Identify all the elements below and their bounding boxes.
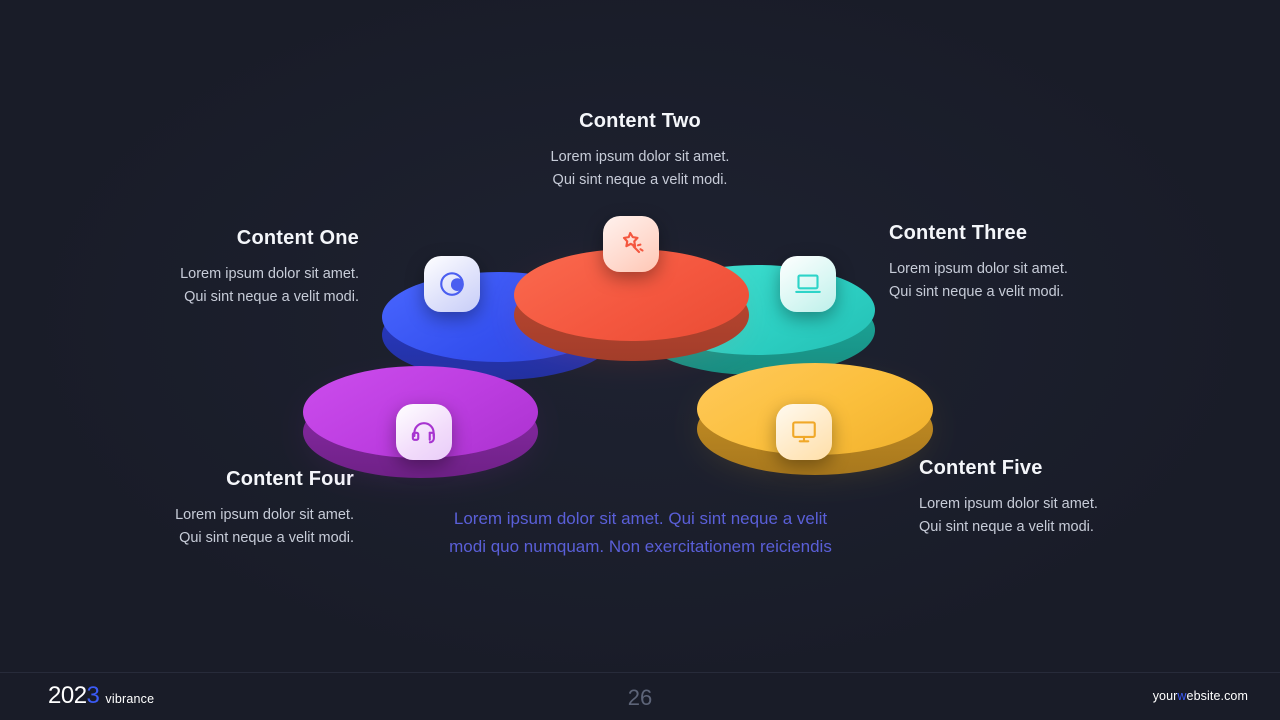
- content-two-body: Lorem ipsum dolor sit amet. Qui sint neq…: [0, 146, 1280, 193]
- content-one-title: Content One: [180, 225, 359, 251]
- headphones-icon[interactable]: [396, 404, 452, 460]
- content-block-one: Content One Lorem ipsum dolor sit amet. …: [180, 225, 359, 310]
- moon-circle-icon[interactable]: [424, 256, 480, 312]
- content-block-four: Content Four Lorem ipsum dolor sit amet.…: [175, 466, 354, 551]
- content-four-title: Content Four: [175, 466, 354, 492]
- content-one-body: Lorem ipsum dolor sit amet. Qui sint neq…: [180, 263, 359, 310]
- page-number: 26: [0, 685, 1280, 711]
- website-url-suffix: ebsite.com: [1187, 689, 1248, 703]
- content-block-five: Content Five Lorem ipsum dolor sit amet.…: [919, 455, 1098, 540]
- magic-wand-icon[interactable]: [603, 216, 659, 272]
- slide-caption: Lorem ipsum dolor sit amet. Qui sint neq…: [448, 505, 833, 560]
- slide-canvas: Content One Lorem ipsum dolor sit amet. …: [0, 0, 1280, 720]
- content-five-title: Content Five: [919, 455, 1098, 481]
- content-block-two: Content Two Lorem ipsum dolor sit amet. …: [0, 108, 1280, 193]
- content-three-title: Content Three: [889, 220, 1068, 246]
- monitor-icon[interactable]: [776, 404, 832, 460]
- content-block-three: Content Three Lorem ipsum dolor sit amet…: [889, 220, 1068, 305]
- content-three-body: Lorem ipsum dolor sit amet. Qui sint neq…: [889, 258, 1068, 305]
- slide-footer: 2023 vibrance 26 yourwebsite.com: [0, 672, 1280, 720]
- website-url-accent: w: [1177, 689, 1186, 703]
- content-two-title: Content Two: [0, 108, 1280, 134]
- content-four-body: Lorem ipsum dolor sit amet. Qui sint neq…: [175, 504, 354, 551]
- website-url-prefix: your: [1153, 689, 1178, 703]
- website-url[interactable]: yourwebsite.com: [1153, 689, 1248, 703]
- content-five-body: Lorem ipsum dolor sit amet. Qui sint neq…: [919, 493, 1098, 540]
- laptop-icon[interactable]: [780, 256, 836, 312]
